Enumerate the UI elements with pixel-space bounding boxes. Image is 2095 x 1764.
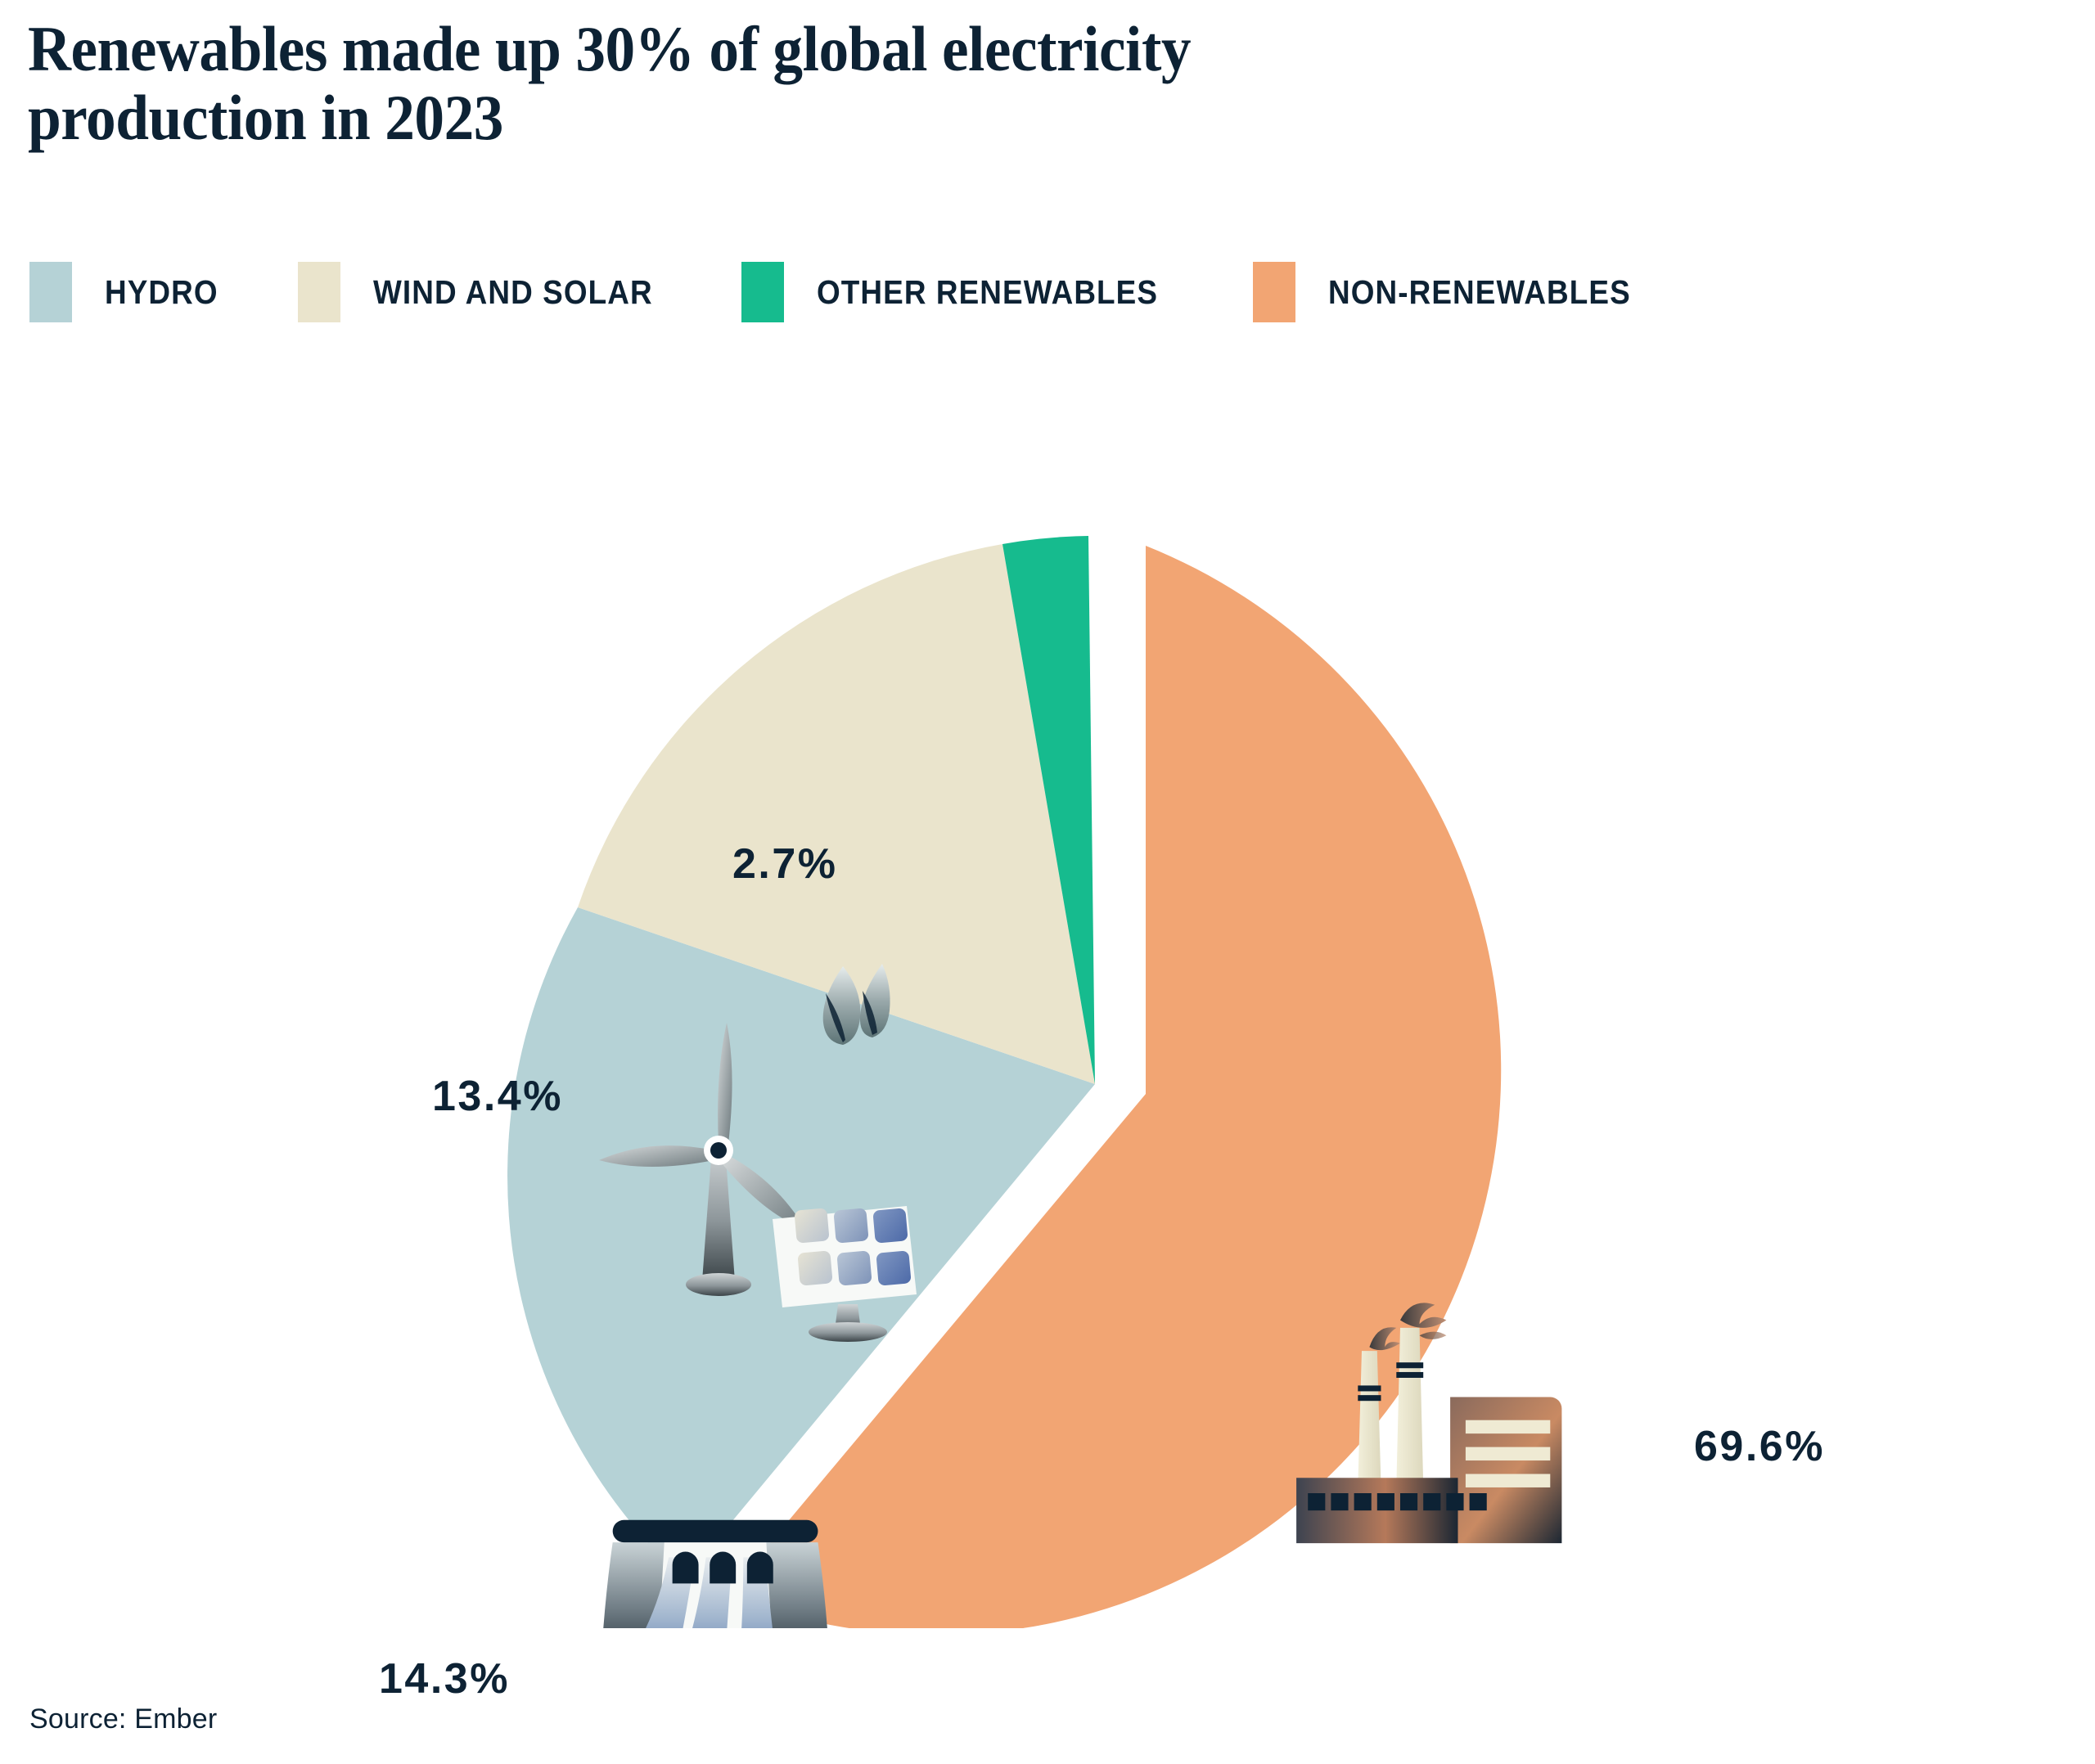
legend-swatch-other-renewables <box>741 262 784 322</box>
value-label-hydro: 14.3% <box>379 1654 510 1703</box>
legend-item-hydro[interactable]: HYDRO <box>29 260 231 324</box>
chart-legend: HYDRO WIND AND SOLAR OTHER RENEWABLES NO… <box>29 260 2075 324</box>
legend-swatch-non-renewables <box>1253 262 1295 322</box>
legend-swatch-wind-and-solar <box>298 262 340 322</box>
source-note: Source: Ember <box>29 1703 217 1735</box>
legend-label-wind-and-solar: WIND AND SOLAR <box>373 273 653 312</box>
legend-item-other-renewables[interactable]: OTHER RENEWABLES <box>741 260 1196 324</box>
chart-root: Renewables made up 30% of global electri… <box>0 0 2095 1764</box>
legend-label-other-renewables: OTHER RENEWABLES <box>817 273 1158 312</box>
value-label-wind-and-solar: 13.4% <box>432 1072 563 1121</box>
hydro-dam-icon <box>594 1520 833 1628</box>
page-title: Renewables made up 30% of global electri… <box>28 15 1874 152</box>
legend-swatch-hydro <box>29 262 72 322</box>
legend-item-non-renewables[interactable]: NON-RENEWABLES <box>1253 260 1665 324</box>
pie-chart-area: 2.7% 13.4% 14.3% 69.6% <box>0 352 2095 1628</box>
legend-label-non-renewables: NON-RENEWABLES <box>1328 273 1631 312</box>
legend-item-wind-and-solar[interactable]: WIND AND SOLAR <box>298 260 684 324</box>
value-label-other-renewables: 2.7% <box>732 839 838 889</box>
legend-label-hydro: HYDRO <box>105 273 219 312</box>
value-label-non-renewables: 69.6% <box>1694 1422 1825 1471</box>
title-block: Renewables made up 30% of global electri… <box>28 15 1992 152</box>
